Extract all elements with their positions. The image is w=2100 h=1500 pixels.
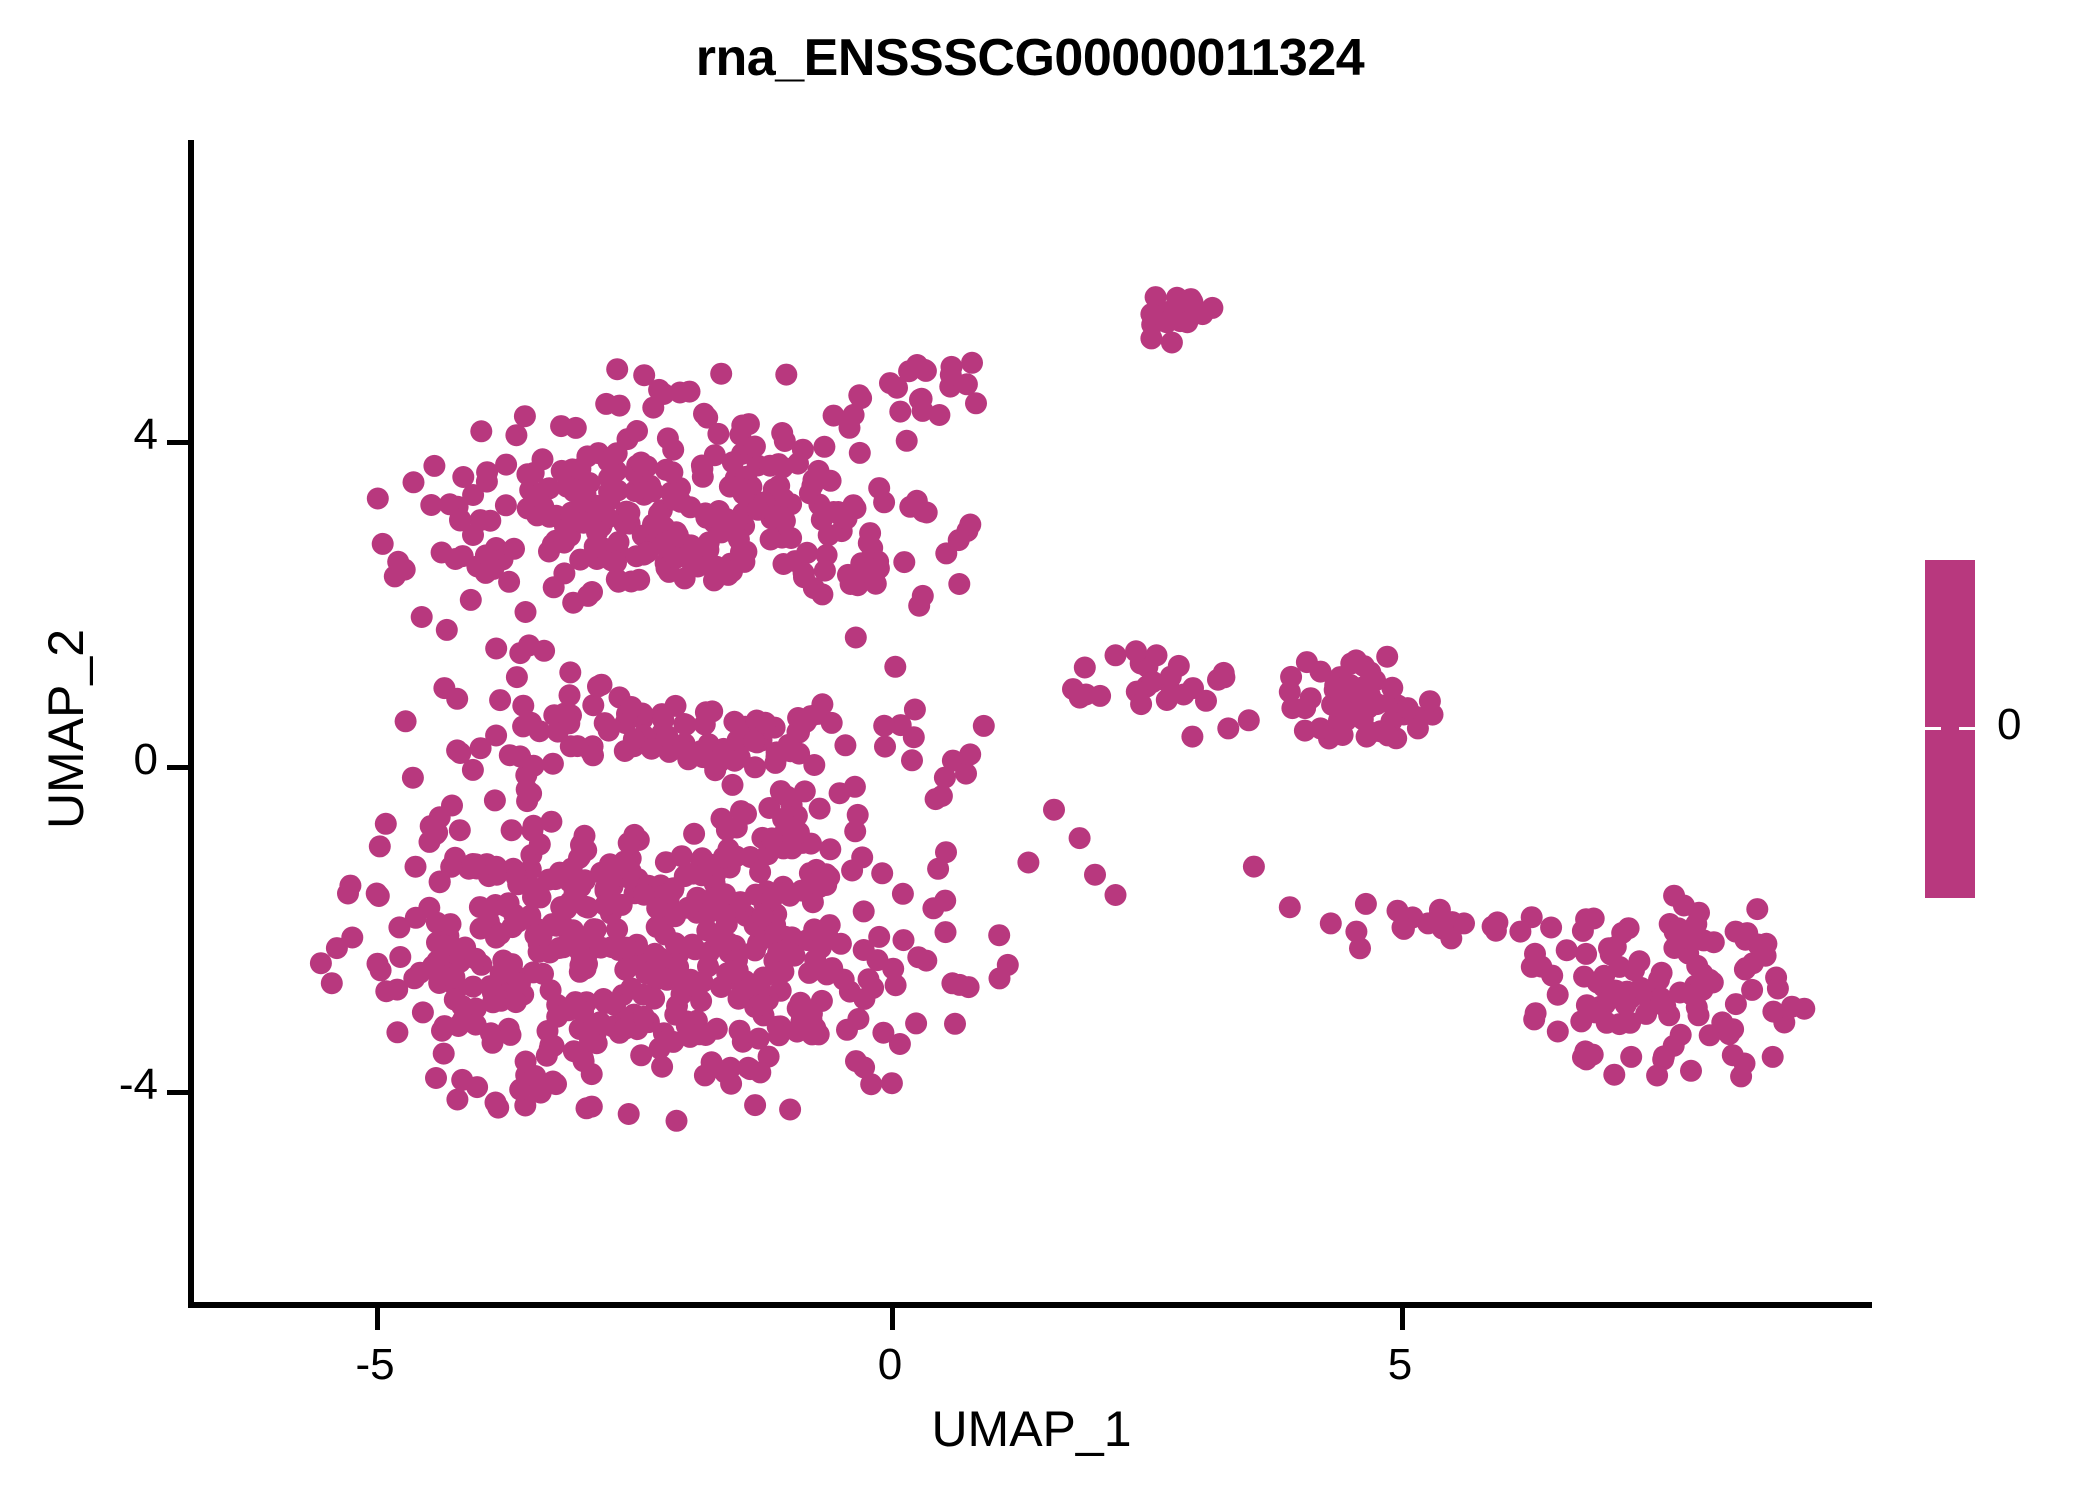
- colorbar-tick-left: [1925, 727, 1941, 730]
- y-axis-title: UMAP_2: [37, 449, 95, 1009]
- colorbar-tick-label-0: 0: [1997, 700, 2021, 750]
- y-tick-mark-neg4: [167, 1090, 189, 1095]
- page-title: rna_ENSSSCG00000011324: [0, 28, 2060, 88]
- colorbar-tick-right: [1959, 727, 1975, 730]
- x-tick-label-neg5: -5: [295, 1340, 455, 1390]
- scatter-plot-panel: [193, 140, 1870, 1305]
- figure-canvas: rna_ENSSSCG00000011324 4 0 -4 -5 0 5 UMA…: [0, 0, 2100, 1500]
- x-tick-label-0: 0: [810, 1340, 970, 1390]
- y-tick-mark-4: [167, 440, 189, 445]
- colorbar-legend: 0: [1925, 560, 2095, 910]
- x-tick-mark-neg5: [375, 1308, 380, 1330]
- x-tick-mark-0: [890, 1308, 895, 1330]
- x-tick-mark-5: [1400, 1308, 1405, 1330]
- x-tick-label-5: 5: [1320, 1340, 1480, 1390]
- scatter-points-layer: [193, 140, 1870, 1305]
- y-tick-label-neg4: -4: [40, 1060, 158, 1110]
- x-axis-title: UMAP_1: [193, 1400, 1870, 1458]
- y-tick-mark-0: [167, 765, 189, 770]
